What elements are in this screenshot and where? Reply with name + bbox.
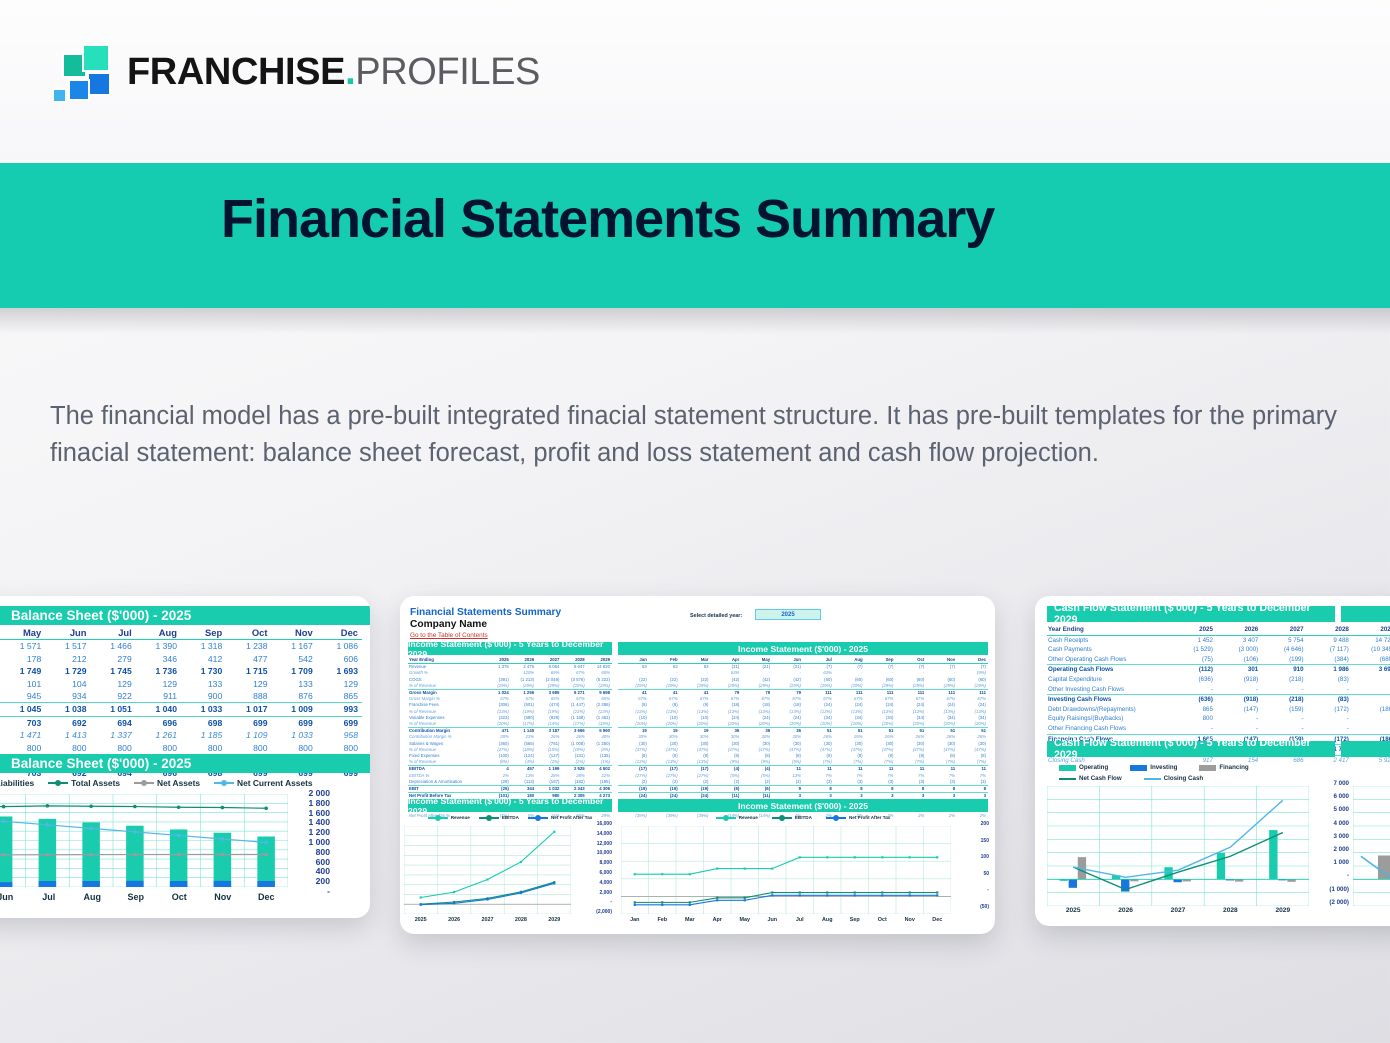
table-cell: 457 [511,766,536,773]
table-cell: - [1352,695,1390,705]
table-cell: 1 571 [0,640,45,653]
axis-tick: 200 [316,876,330,886]
table-cell: (29%) [834,683,865,690]
axis-tick: (50) [980,904,989,910]
banner-shadow [0,308,1390,334]
table-cell: Sep [865,657,896,664]
table-cell: 1 086 [317,640,362,653]
table-cell: (19) [649,786,680,793]
table-cell: (20%) [680,721,711,728]
table-cell: 11 [865,766,896,773]
legend-label: Investing [1150,764,1177,771]
table-cell: 477 [226,653,271,665]
table-row: 1 7491 7291 7451 7361 7301 7151 7091 693 [0,665,362,677]
legend-item: Net Cash Flow [1059,775,1122,782]
legend-label: Net Profit After Tax [849,815,890,820]
column-header: May [0,627,45,640]
legend-item: Total Assets [48,778,120,788]
table-cell: (29%) [649,683,680,690]
table-cell: - [1307,714,1352,724]
table-cell: (636) [1171,695,1216,705]
axis-tick: 800 [316,847,330,857]
axis-tick: Oct [172,892,187,902]
table-row: EBIT(25)3441 0322 3434 306 [408,786,612,793]
income-five-year-legend: RevenueEBITDANet Profit After Tax [408,815,612,820]
table-cell: (2%) [561,759,586,766]
table-cell: (17%) [511,721,536,728]
table-cell: Jul [803,657,834,664]
table-cell: 865 [1171,705,1216,715]
table-cell: 79 [741,690,772,697]
income-statement-monthly-table: JanFebMarAprMayJunJulAugSepOctNovDec6363… [618,657,988,819]
table-cell: (112) [1171,665,1216,675]
legend-swatch-icon [479,817,499,819]
table-row: % of Revenue(8%)(4%)(2%)(2%)(1%) [408,759,612,766]
table-row: 1 5711 5171 4661 3901 3181 2381 1671 086 [0,640,362,653]
table-cell: 11 [772,766,803,773]
table-cell: - [1216,685,1261,695]
table-cell: (17) [649,766,680,773]
income-five-year-x-axis: 20252026202720282029 [404,917,571,927]
table-cell: (17) [680,766,711,773]
axis-tick: Sep [850,917,860,923]
table-cell: - [1352,714,1390,724]
income-monthly-chart-plot [621,826,951,914]
table-cell: 36 [710,728,741,735]
table-cell: 36 [741,728,772,735]
table-cell: 911 [136,690,181,703]
table-cell: 1 749 [0,665,45,677]
table-cell: 129 [226,678,271,690]
legend-swatch-icon [134,782,154,784]
table-cell: (918) [1216,695,1261,705]
axis-tick: - [987,887,989,893]
table-cell: 800 [272,742,317,754]
table-cell: (2) [772,779,803,786]
axis-tick: 2 000 [308,788,330,798]
table-cell: (3) [926,779,957,786]
table-cell: 876 [272,690,317,703]
cash-flow-chart-title-continuation [1341,741,1390,757]
table-cell: 19 [649,728,680,735]
table-cell: (3 000) [1216,645,1261,655]
table-cell: Dec [957,657,988,664]
table-row: Operating Cash Flows(112)3019101 9863 69… [1047,665,1390,675]
table-cell: 800 [91,742,136,754]
table-cell: 3 407 [1216,635,1261,645]
table-cell: (20%) [803,721,834,728]
table-cell: (9%) [741,759,772,766]
row-label: Gross Margin [408,690,486,697]
table-row: (29%)(29%)(29%)(29%)(29%)(29%)(29%)(29%)… [618,683,988,690]
table-cell: (29%) [772,683,803,690]
legend-swatch-icon [716,817,736,819]
table-cell: 104 [45,678,90,690]
axis-tick: 2026 [1118,907,1133,914]
table-cell: (3) [803,779,834,786]
table-cell: 865 [317,690,362,703]
cash-flow-y-axis: 7 0006 0005 0004 0003 0002 0001 000-(1 0… [1305,780,1351,912]
table-cell: (13%) [680,759,711,766]
column-header: Dec [317,627,362,640]
table-row: 178212279346412477542606 [0,653,362,665]
table-cell: 111 [895,690,926,697]
table-cell: 1 024 [486,690,511,697]
table-cell: 41 [618,690,649,697]
table-cell: (19) [618,786,649,793]
table-cell: 1 693 [317,665,362,677]
table-cell: 133 [272,678,317,690]
table-cell: (13%) [649,759,680,766]
table-cell: 800 [0,742,45,754]
table-cell: (20%) [618,721,649,728]
table-cell: - [1261,685,1306,695]
table-cell: (218) [1261,695,1306,705]
table-cell: Apr [710,657,741,664]
axis-tick: 2028 [1223,907,1238,914]
table-cell: 3 685 [536,690,561,697]
table-cell: 3 666 [561,728,586,735]
table-cell: 344 [511,786,536,793]
table-row: Depreciation & Amortisation(29)(113)(167… [408,779,612,786]
axis-tick: 7 000 [1334,780,1349,787]
axis-tick: 1 000 [1334,859,1349,866]
table-cell: (106) [1216,655,1261,665]
table-cell: 101 [0,678,45,690]
axis-tick: (1 000) [1329,886,1349,893]
table-cell: (7) [834,664,865,671]
axis-tick: Nov [214,892,231,902]
table-cell: (6) [710,786,741,793]
table-cell: (918) [1216,675,1261,685]
table-cell: 703 [0,716,45,729]
table-cell: 8 [895,786,926,793]
table-cell: 1 032 [536,786,561,793]
table-cell: 129 [136,678,181,690]
row-label: Other Investing Cash Flows [1047,685,1171,695]
table-cell: Jun [772,657,803,664]
legend-item: Net Profit After Tax [826,815,890,820]
summary-band-five-year-table: Income Statement ($'000) - 5 Years to De… [408,642,612,655]
legend-swatch-icon [1130,765,1147,771]
table-cell: (29%) [680,683,711,690]
table-cell: (167) [536,779,561,786]
table-cell: (20%) [957,721,988,728]
column-header: Jul [91,627,136,640]
table-cell: 800 [317,742,362,754]
table-cell: 1 466 [91,640,136,653]
axis-tick: 2,000 [599,890,612,896]
table-cell: 1 238 [226,640,271,653]
legend-item: Investing [1130,764,1177,771]
axis-tick: Jan [630,917,639,923]
legend-row: OperatingInvestingFinancing [1059,762,1339,773]
table-cell: 14 720 [1352,635,1390,645]
table-cell: (8%) [486,759,511,766]
summary-company-name: Company Name [410,619,487,630]
table-row: (2)(2)(2)(2)(2)(2)(3)(3)(3)(3)(3)(3) [618,779,988,786]
table-cell: 111 [865,690,896,697]
table-cell: (4%) [511,759,536,766]
income-monthly-x-axis: JanFebMarAprMayJunJulAugSepOctNovDec [621,917,951,927]
table-cell: 945 [0,690,45,703]
axis-tick: 150 [981,838,989,844]
table-cell: Jan [618,657,649,664]
income-five-year-chart-plot [404,826,571,914]
legend-row: Net Cash FlowClosing Cash [1059,773,1339,784]
table-cell: 8 [803,786,834,793]
summary-band-five-year-chart: Income Statement ($'000) - 5 Years to De… [408,799,612,812]
axis-tick: Dec [258,892,275,902]
table-cell: (172) [1307,705,1352,715]
axis-tick: Aug [84,892,102,902]
axis-tick: 2 000 [1334,846,1349,853]
table-cell: (29) [486,779,511,786]
table-cell: 1 185 [181,729,226,741]
column-header: Aug [136,627,181,640]
table-cell: (7%) [803,759,834,766]
table-cell: 1 517 [45,640,90,653]
axis-tick: 16,000 [597,821,612,827]
table-cell: Feb [649,657,680,664]
select-year-input[interactable]: 2025 [755,609,821,620]
table-cell: 8 [957,786,988,793]
axis-tick: 6,000 [599,870,612,876]
table-cell: 1 017 [226,703,271,716]
cash-flow-monthly-chart-plot [1353,786,1390,906]
table-row: MayJunJulAugSepOctNovDec [0,627,362,640]
table-cell: 1 729 [45,665,90,677]
select-year-label: Select detailed year: [690,613,742,619]
cash-flow-table-title: Cash Flow Statement ($'000) - 5 Years to… [1047,606,1335,622]
table-cell: 922 [91,690,136,703]
brand-name-light: PROFILES [355,51,540,93]
table-row: JanFebMarAprMayJunJulAugSepOctNovDec [618,657,988,664]
table-row: 191919363636515151515151 [618,728,988,735]
table-row: Gross Margin1 0241 2563 6856 2719 698 [408,690,612,697]
table-cell: 1 375 [486,664,511,671]
axis-tick: 5 000 [1334,806,1349,813]
row-label: Capital Expenditure [1047,675,1171,685]
table-cell: 111 [957,690,988,697]
table-row: Revenue1 3752 4755 0548 64714 820 [408,664,612,671]
table-cell: (83) [1307,675,1352,685]
table-cell: 4 502 [587,766,612,773]
table-cell: (20%) [649,721,680,728]
legend-line-icon [1059,778,1076,780]
table-cell: 2029 [1352,625,1390,635]
table-cell: 11 [803,766,834,773]
table-cell: 699 [272,716,317,729]
table-row: 945934922911900888876865 [0,690,362,703]
table-cell: (29%) [926,683,957,690]
table-cell: (6) [741,786,772,793]
table-cell: 2025 [1171,625,1216,635]
legend-label: Net Profit After Tax [551,815,592,820]
table-cell: 79 [710,690,741,697]
table-cell: 1 009 [272,703,317,716]
table-cell: 1 256 [511,690,536,697]
table-cell: 2027 [1261,625,1306,635]
row-label: Year Ending [408,657,486,664]
legend-swatch-icon [528,817,548,819]
table-cell: 1 045 [0,703,45,716]
legend-label: EBITDA [502,815,519,820]
table-cell: 8 [926,786,957,793]
legend-swatch-icon [48,782,68,784]
axis-tick: 100 [981,854,989,860]
table-row: Capital Expenditure(636)(918)(218)(83)-(… [1047,675,1390,685]
axis-tick: 3 000 [1334,833,1349,840]
table-cell: 11 [957,766,988,773]
table-cell: (2) [680,779,711,786]
table-row: Debt Drawdowns/(Repayments)865(147)(159)… [1047,705,1390,715]
axis-tick: 2026 [448,917,460,923]
cash-flow-monthly-x-axis: Jan [1353,907,1390,919]
table-cell: 3 694 [1352,665,1390,675]
legend-swatch-icon [1199,765,1216,771]
table-row: Investing Cash Flows(636)(918)(218)(83)-… [1047,695,1390,705]
table-cell: (19) [680,786,711,793]
table-cell: Aug [834,657,865,664]
table-cell: 2025 [486,657,511,664]
table-cell: (7) [803,664,834,671]
logo-squares-icon [47,44,107,100]
row-label: Operating Cash Flows [1047,665,1171,675]
table-cell: (1 529) [1171,645,1216,655]
table-cell: (2%) [536,759,561,766]
axis-tick: Feb [657,917,667,923]
table-cell: (186) [1352,705,1390,715]
balance-sheet-screenshot-card[interactable]: Balance Sheet ($'000) - 2025 MayJunJulAu… [0,596,370,918]
axis-tick: - [1347,872,1349,879]
table-cell: Oct [895,657,926,664]
table-cell: May [741,657,772,664]
table-cell: 606 [317,653,362,665]
table-cell: (3) [957,779,988,786]
table-cell: 1 038 [45,703,90,716]
row-label: Year Ending [1047,625,1171,635]
table-cell: (29%) [486,683,511,690]
legend-item: Net Assets [134,778,200,788]
table-cell: 1 730 [181,665,226,677]
table-cell: 2028 [1307,625,1352,635]
legend-item: Financing [1199,764,1248,771]
table-cell: (29%) [895,683,926,690]
table-cell: 1 167 [272,640,317,653]
table-row: Year Ending20252026202720282029 [408,657,612,664]
table-row: Equity Raisings/(Buybacks)800----800 [1047,714,1390,724]
column-header: Nov [272,627,317,640]
table-row: Other Investing Cash Flows------ [1047,685,1390,695]
table-cell: (3) [895,779,926,786]
table-cell: (7%) [957,759,988,766]
table-cell: (9%) [710,759,741,766]
table-cell: 800 [136,742,181,754]
brand-dot: . [345,51,355,93]
table-cell: 178 [0,653,45,665]
table-cell: Nov [926,657,957,664]
row-label: Revenue [408,664,486,671]
table-row: Cash Payments(1 529)(3 000)(4 646)(7 117… [1047,645,1390,655]
legend-swatch-icon [214,782,234,784]
table-cell: 6 271 [561,690,586,697]
table-cell: 2 475 [511,664,536,671]
axis-tick: 2027 [482,917,494,923]
table-cell: 1 390 [136,640,181,653]
table-cell: 1 337 [91,729,136,741]
table-cell: (7%) [865,759,896,766]
table-cell: 9 698 [587,690,612,697]
title-banner: Financial Statements Summary [0,163,1390,308]
column-header: Oct [226,627,271,640]
table-cell: (7) [926,664,957,671]
table-cell: 2026 [1216,625,1261,635]
summary-sheet-title: Financial Statements Summary [410,607,561,618]
table-cell: - [1171,685,1216,695]
legend-item: Revenue [428,815,470,820]
legend-label: Revenue [739,815,758,820]
table-cell: 3 187 [536,728,561,735]
table-cell: (29%) [741,683,772,690]
table-cell: (384) [1307,655,1352,665]
table-row: 1 0451 0381 0511 0401 0331 0171 009993 [0,703,362,716]
balance-sheet-chart-legend: urrent LiabilitiesTotal AssetsNet Assets… [0,778,346,788]
legend-item: Closing Cash [1144,775,1204,782]
table-cell: 2026 [511,657,536,664]
table-cell: - [1352,724,1390,734]
table-cell: 14 820 [587,664,612,671]
table-cell: 111 [803,690,834,697]
table-cell: 8 647 [561,664,586,671]
table-cell: 698 [181,716,226,729]
axis-tick: 12,000 [597,841,612,847]
table-cell: 4 306 [587,786,612,793]
intro-paragraph: The financial model has a pre-built inte… [50,398,1340,473]
table-cell: 1 199 [536,766,561,773]
table-cell: 1 986 [1307,665,1352,675]
axis-tick: 1 800 [308,798,330,808]
table-cell: 2 525 [561,766,586,773]
axis-tick: 4,000 [599,880,612,886]
cash-flow-screenshot-card[interactable]: Cash Flow Statement ($'000) - 5 Years to… [1035,596,1390,926]
brand-logo: FRANCHISE.PROFILES [47,44,540,100]
axis-tick: 6 000 [1334,793,1349,800]
table-cell: (29%) [865,683,896,690]
legend-label: Net Current Assets [237,778,313,788]
table-row: % of Revenue(20%)(17%)(14%)(17%)(19%) [408,721,612,728]
table-row: Other Financing Cash Flows------ [1047,724,1390,734]
table-cell: 11 [895,766,926,773]
table-row: 800800800800800800800800 [0,742,362,754]
table-cell: 692 [45,716,90,729]
table-cell: (29%) [618,683,649,690]
table-cell: 1 145 [511,728,536,735]
table-cell: 2028 [561,657,586,664]
table-cell: (17%) [561,721,586,728]
table-row: % of Revenue(29%)(29%)(29%)(29%)(29%) [408,683,612,690]
table-cell: 900 [181,690,226,703]
axis-tick: 1 600 [308,808,330,818]
financial-summary-screenshot-card[interactable]: Financial Statements Summary Company Nam… [400,596,995,934]
table-cell: 1 040 [136,703,181,716]
table-cell: 5 960 [587,728,612,735]
table-cell: 696 [136,716,181,729]
table-cell: - [1352,685,1390,695]
table-cell: (7%) [834,759,865,766]
income-monthly-legend: RevenueEBITDANet Profit After Tax [618,815,988,820]
row-label: EBITDA [408,766,486,773]
